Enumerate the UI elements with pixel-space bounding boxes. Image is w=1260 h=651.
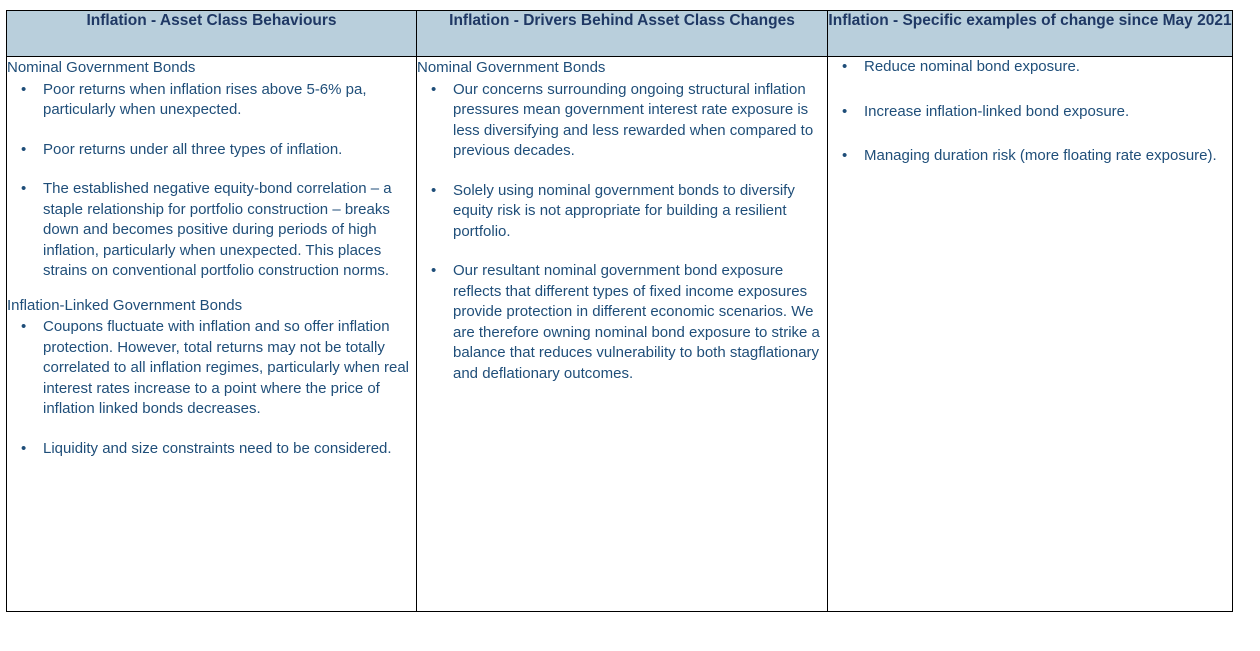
bullet-list-col1-inflation-linked: • Coupons fluctuate with inflation and s… xyxy=(7,317,416,459)
list-item-text: Reduce nominal bond exposure. xyxy=(864,58,1080,75)
list-item: • Coupons fluctuate with inflation and s… xyxy=(7,317,416,420)
bullet-dot-icon: • xyxy=(21,439,26,460)
cell-drivers-behind-changes: Nominal Government Bonds • Our concerns … xyxy=(417,57,828,612)
list-item-text: Our concerns surrounding ongoing structu… xyxy=(453,81,813,160)
column-header-specific-examples: Inflation - Specific examples of change … xyxy=(828,11,1233,57)
bullet-dot-icon: • xyxy=(21,317,26,338)
list-item-text: Poor returns under all three types of in… xyxy=(43,141,342,158)
inflation-comparison-table: Inflation - Asset Class Behaviours Infla… xyxy=(6,10,1233,612)
list-item: • Our resultant nominal government bond … xyxy=(417,261,827,384)
bullet-dot-icon: • xyxy=(431,80,436,101)
bullet-dot-icon: • xyxy=(842,102,847,123)
column-header-drivers-behind-changes: Inflation - Drivers Behind Asset Class C… xyxy=(417,11,828,57)
list-item-text: Poor returns when inflation rises above … xyxy=(43,81,367,119)
list-item-text: Our resultant nominal government bond ex… xyxy=(453,262,820,382)
list-item-text: Liquidity and size constraints need to b… xyxy=(43,440,392,457)
bullet-list-col2-nominal: • Our concerns surrounding ongoing struc… xyxy=(417,80,827,385)
list-item: • The established negative equity-bond c… xyxy=(7,179,416,282)
cell-specific-examples: • Reduce nominal bond exposure. • Increa… xyxy=(828,57,1233,612)
list-item: • Poor returns under all three types of … xyxy=(7,140,416,161)
list-item: • Our concerns surrounding ongoing struc… xyxy=(417,80,827,162)
subheading-inflation-linked-government-bonds: Inflation-Linked Government Bonds xyxy=(7,296,416,317)
page-canvas: Inflation - Asset Class Behaviours Infla… xyxy=(0,0,1260,651)
subheading-nominal-government-bonds-col1: Nominal Government Bonds xyxy=(7,58,416,79)
bullet-dot-icon: • xyxy=(431,261,436,282)
section-spacer xyxy=(7,282,416,295)
bullet-list-col1-nominal: • Poor returns when inflation rises abov… xyxy=(7,80,416,282)
bullet-list-col3-actions: • Reduce nominal bond exposure. • Increa… xyxy=(828,57,1232,167)
list-item-text: The established negative equity-bond cor… xyxy=(43,180,392,279)
list-item-text: Coupons fluctuate with inflation and so … xyxy=(43,318,409,417)
list-item: • Poor returns when inflation rises abov… xyxy=(7,80,416,121)
bullet-dot-icon: • xyxy=(21,179,26,200)
bullet-dot-icon: • xyxy=(21,140,26,161)
list-item-text: Managing duration risk (more floating ra… xyxy=(864,147,1217,164)
list-item: • Solely using nominal government bonds … xyxy=(417,181,827,243)
table-body: Nominal Government Bonds • Poor returns … xyxy=(7,57,1233,612)
table-row: Nominal Government Bonds • Poor returns … xyxy=(7,57,1233,612)
list-item: • Liquidity and size constraints need to… xyxy=(7,439,416,460)
list-item-text: Increase inflation-linked bond exposure. xyxy=(864,103,1129,120)
column-header-asset-class-behaviours: Inflation - Asset Class Behaviours xyxy=(7,11,417,57)
cell-asset-class-behaviours: Nominal Government Bonds • Poor returns … xyxy=(7,57,417,612)
table-header-row-group: Inflation - Asset Class Behaviours Infla… xyxy=(7,11,1233,57)
subheading-nominal-government-bonds-col2: Nominal Government Bonds xyxy=(417,58,827,79)
list-item: • Managing duration risk (more floating … xyxy=(828,146,1232,167)
list-item: • Increase inflation-linked bond exposur… xyxy=(828,102,1232,123)
bullet-dot-icon: • xyxy=(21,80,26,101)
list-item-text: Solely using nominal government bonds to… xyxy=(453,182,795,240)
bullet-dot-icon: • xyxy=(431,181,436,202)
table-header-row: Inflation - Asset Class Behaviours Infla… xyxy=(7,11,1233,57)
list-item: • Reduce nominal bond exposure. xyxy=(828,57,1232,78)
bullet-dot-icon: • xyxy=(842,146,847,167)
bullet-dot-icon: • xyxy=(842,57,847,78)
